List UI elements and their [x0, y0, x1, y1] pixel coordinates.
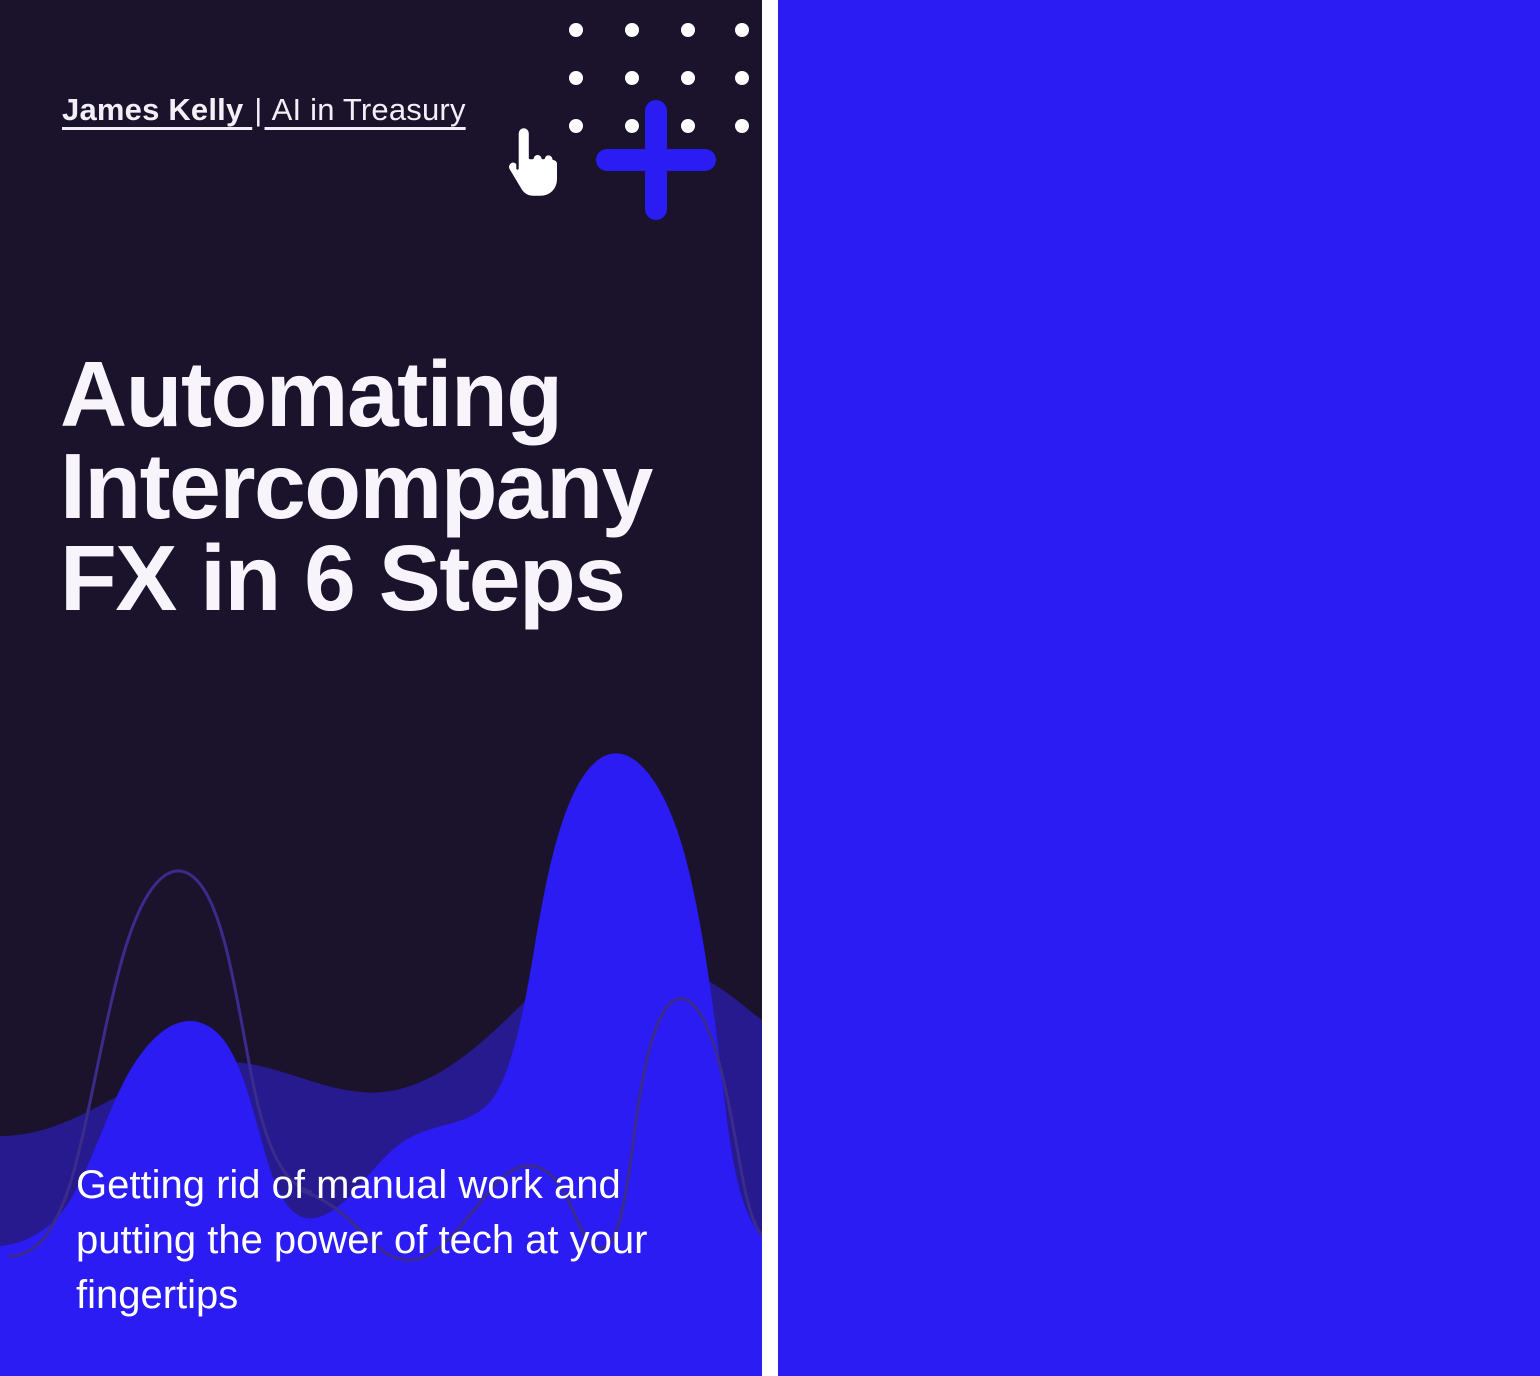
plus-icon	[592, 96, 720, 224]
pointing-hand-cursor-icon	[500, 124, 562, 200]
slide-deck: James Kelly | AI in Treasury Automating …	[0, 0, 1540, 1376]
byline-separator: |	[252, 92, 264, 127]
byline-tagline: AI in Treasury	[265, 92, 466, 127]
slide-left-cover: James Kelly | AI in Treasury Automating …	[0, 0, 762, 1376]
headline-line-1: Automating	[60, 342, 562, 446]
slide-right-step-1: Transfer currency balances to a group he…	[778, 0, 1540, 1376]
slide-divider	[762, 0, 778, 1376]
byline-name: James Kelly	[62, 92, 252, 127]
byline: James Kelly | AI in Treasury	[62, 92, 466, 128]
cover-subcopy: Getting rid of manual work and putting t…	[76, 1158, 696, 1324]
headline-line-2: Intercompany	[60, 434, 652, 538]
page-title: Automating Intercompany FX in 6 Steps	[60, 348, 740, 624]
headline-line-3: FX in 6 Steps	[60, 526, 624, 630]
